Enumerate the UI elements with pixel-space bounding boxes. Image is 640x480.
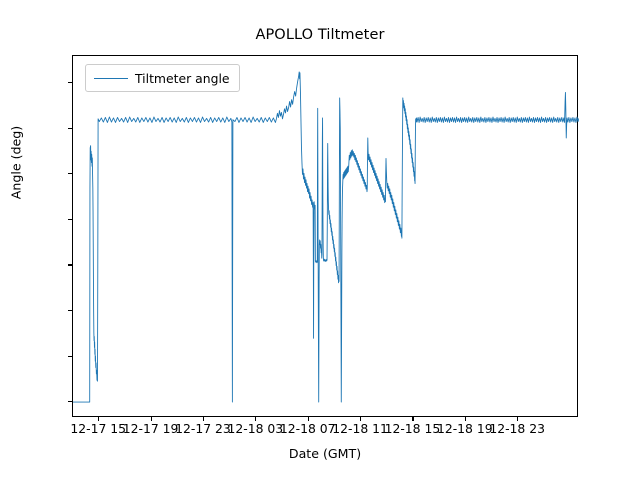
tiltmeter-line-chart	[73, 56, 579, 418]
y-tick-mark	[68, 264, 72, 265]
x-tick-mark	[308, 417, 309, 421]
x-tick-mark	[465, 417, 466, 421]
y-tick-mark	[68, 173, 72, 174]
x-tick-mark	[203, 417, 204, 421]
y-tick-mark	[68, 128, 72, 129]
x-tick-mark	[151, 417, 152, 421]
x-tick-mark	[517, 417, 518, 421]
x-axis-label: Date (GMT)	[72, 446, 578, 461]
y-tick-mark	[68, 401, 72, 402]
y-tick-mark	[68, 356, 72, 357]
x-tick-mark	[360, 417, 361, 421]
matplotlib-figure: APOLLO Tiltmeter Angle (deg) Date (GMT) …	[0, 0, 640, 480]
x-tick-label: 12-18 23	[457, 422, 577, 436]
y-tick-mark	[68, 310, 72, 311]
legend-label: Tiltmeter angle	[135, 71, 230, 86]
page-title: APOLLO Tiltmeter	[0, 27, 640, 43]
y-tick-mark	[68, 219, 72, 220]
x-tick-mark	[98, 417, 99, 421]
x-tick-mark	[255, 417, 256, 421]
legend: Tiltmeter angle	[85, 64, 240, 92]
x-tick-mark	[412, 417, 413, 421]
y-tick-mark	[68, 82, 72, 83]
y-axis-label: Angle (deg)	[9, 0, 24, 343]
tiltmeter-angle-series	[73, 72, 579, 402]
plot-area: Tiltmeter angle	[72, 55, 578, 417]
legend-line-swatch	[94, 78, 128, 79]
